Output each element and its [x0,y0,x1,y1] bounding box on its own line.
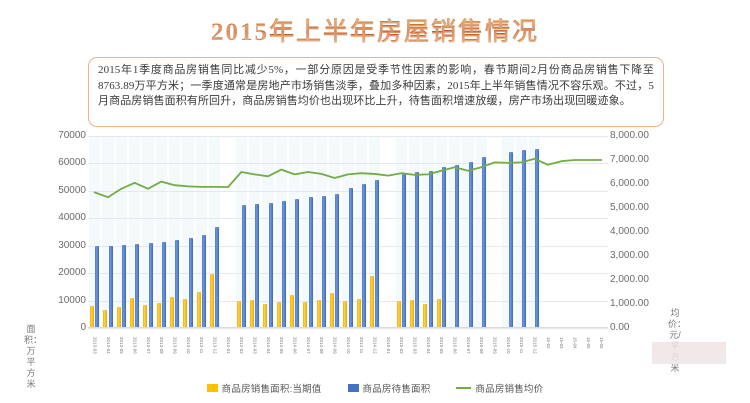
y-tick-right: 7,000.00 [610,155,649,165]
y-tick-right: 3,000.00 [610,251,649,261]
x-tick-label: 15-05 [586,337,591,349]
x-tick-label: 2015-11 [519,337,524,353]
avg-price-line [88,136,608,328]
x-tick-label: 2013-06 [132,337,137,354]
y-tick-left: 50000 [58,186,86,196]
x-tick-label: 2014-02 [239,337,244,354]
x-tick-label: 15-06 [599,337,604,349]
x-tick-label: 2014-03 [252,337,257,354]
legend-label: 商品房销售面积:当期值 [222,381,322,395]
y-tick-right: 5,000.00 [610,203,649,213]
y-tick-left: 10000 [58,296,86,306]
x-tick-label: 2015-04 [426,337,431,354]
legend-label: 商品房销售均价 [475,381,543,395]
x-tick-label: 2015-08 [479,337,484,354]
page-title: 2015年上半年房屋销售情况 [0,12,750,48]
x-tick-label: 2014-06 [292,337,297,354]
chart-screenshot: 2015年上半年房屋销售情况 2015年1季度商品房销售同比减少5%，一部分原因… [0,0,750,403]
y-axis-right-label: 均价：元/平方米 [668,308,682,374]
x-axis-ticks: 2013-032013-042013-052013-062013-072013-… [88,337,608,365]
x-tick-label: 2014-04 [266,337,271,354]
y-tick-right: 6,000.00 [610,179,649,189]
y-tick-left: 0 [80,323,86,333]
y-tick-left: 70000 [58,131,86,141]
x-tick-label: 2015-02 [399,337,404,354]
legend-item-unsold-area[interactable]: 商品房待售面积 [348,381,431,395]
x-tick-label: 2015-09 [492,337,497,354]
x-tick-label: 2015-07 [466,337,471,354]
x-tick-label: 2014-01 [226,337,231,354]
x-tick-label: 2014-12 [372,337,377,354]
x-tick-label: 2015-10 [506,337,511,354]
legend-swatch-icon [348,384,359,392]
chart-legend: 商品房销售面积:当期值 商品房待售面积 商品房销售均价 [0,381,750,395]
watermark-smudge [652,342,726,364]
x-tick-label: 2013-08 [159,337,164,354]
x-tick-label: 2015-05 [439,337,444,354]
y-tick-right: 8,000.00 [610,131,649,141]
x-tick-label: 15-03 [559,337,564,349]
y-tick-left: 60000 [58,158,86,168]
x-tick-label: 2013-04 [106,337,111,354]
y-tick-right: 2,000.00 [610,275,649,285]
x-tick-label: 2015-06 [452,337,457,354]
x-tick-label: 2014-09 [332,337,337,354]
legend-item-avg-price[interactable]: 商品房销售均价 [456,381,543,395]
x-tick-label: 2014-05 [279,337,284,354]
y-tick-left: 40000 [58,213,86,223]
x-tick-label: 2013-10 [186,337,191,354]
x-tick-label: 2014-10 [346,337,351,354]
x-tick-label: 2013-12 [212,337,217,354]
x-tick-label: 2013-11 [199,337,204,353]
x-tick-label: 2015-01 [386,337,391,354]
y-tick-right: 1,000.00 [610,299,649,309]
plot-canvas [88,136,608,328]
x-tick-label: 15-02 [546,337,551,349]
x-tick-label: 2013-09 [172,337,177,354]
legend-item-sales-area[interactable]: 商品房销售面积:当期值 [207,381,322,395]
caption-text: 2015年1季度商品房销售同比减少5%，一部分原因是受季节性因素的影响，春节期间… [98,63,654,110]
legend-label: 商品房待售面积 [363,381,431,395]
y-tick-left: 30000 [58,241,86,251]
caption-box: 2015年1季度商品房销售同比减少5%，一部分原因是受季节性因素的影响，春节期间… [88,57,664,127]
x-tick-label: 2013-03 [92,337,97,354]
x-tick-label: 2013-05 [119,337,124,354]
x-tick-label: 2014-08 [319,337,324,354]
x-tick-label: 2014-07 [306,337,311,354]
y-tick-left: 20000 [58,268,86,278]
x-tick-label: 15-04 [572,337,577,349]
legend-line-icon [456,387,471,390]
y-axis-left-ticks: 700006000050000400003000020000100000 [40,128,86,328]
x-axis-line [88,327,608,328]
x-tick-label: 2014-11 [359,337,364,353]
legend-swatch-icon [207,384,218,392]
x-tick-label: 2015-12 [532,337,537,354]
gridline [88,328,608,329]
y-tick-right: 0.00 [610,323,629,333]
x-tick-label: 2013-07 [146,337,151,354]
y-tick-right: 4,000.00 [610,227,649,237]
x-tick-label: 2015-03 [412,337,417,354]
y-axis-right-ticks: 8,000.007,000.006,000.005,000.004,000.00… [610,128,666,328]
